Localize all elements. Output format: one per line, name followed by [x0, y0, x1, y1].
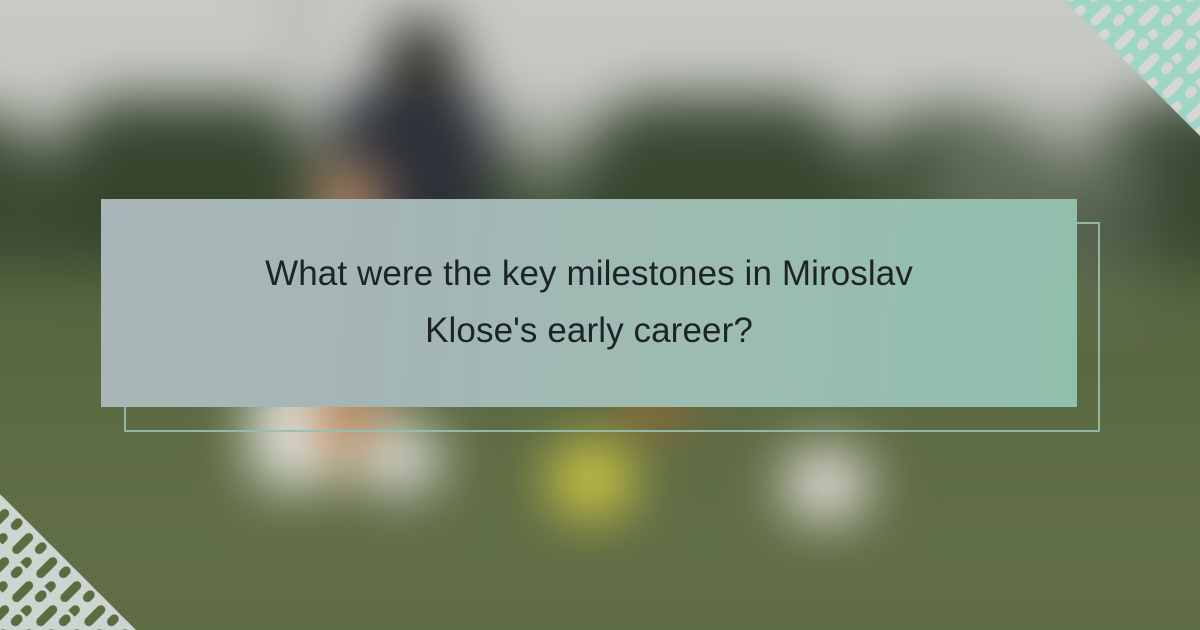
question-card: What were the key milestones in Miroslav… — [101, 199, 1077, 407]
soccer-ball — [358, 424, 441, 494]
question-text: What were the key milestones in Miroslav… — [224, 246, 954, 359]
soccer-ball — [782, 448, 869, 522]
share-card-canvas: What were the key milestones in Miroslav… — [0, 0, 1200, 630]
player-boot — [253, 442, 336, 484]
soccer-ball — [549, 442, 634, 518]
